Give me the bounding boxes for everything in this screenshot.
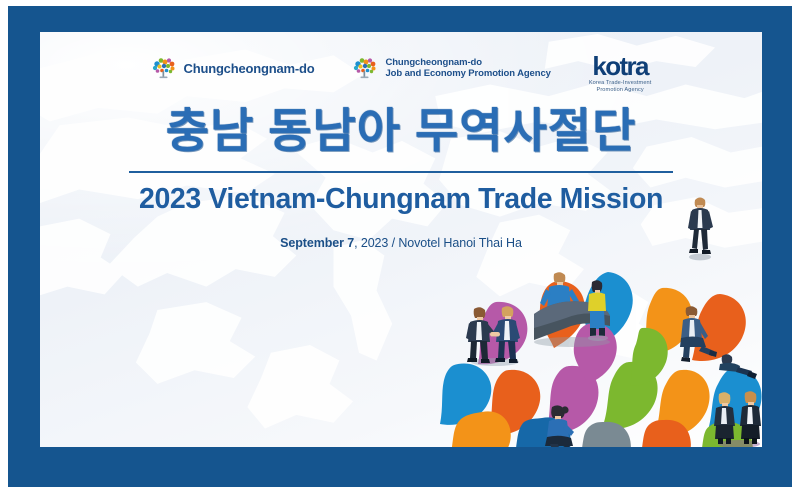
page-title-korean: 충남 동남아 무역사절단 <box>40 106 762 157</box>
kotra-subtitle: Korea Trade-Investment Promotion Agency <box>589 80 652 94</box>
logo-row: Chungcheongnam-do <box>40 56 762 94</box>
page-title-english: 2023 Vietnam-Chungnam Trade Mission <box>40 183 762 216</box>
colorful-tree-logo-icon <box>352 56 378 80</box>
kotra-wordmark: kotra <box>592 53 648 79</box>
logo-job-economy-agency: Chungcheongnam-do Job and Economy Promot… <box>352 56 550 80</box>
event-date-rest: , 2023 / Novotel Hanoi Thai Ha <box>354 236 522 250</box>
poster-border-frame: Chungcheongnam-do <box>8 6 792 487</box>
kotra-subtitle-line-2: Promotion Agency <box>589 87 652 94</box>
colorful-petal-graphic <box>438 272 762 447</box>
headline-block: 충남 동남아 무역사절단 2023 Vietnam-Chungnam Trade… <box>40 106 762 250</box>
poster-interior: Chungcheongnam-do <box>40 32 762 447</box>
logo-chungcheongnam-do: Chungcheongnam-do <box>151 56 315 80</box>
colorful-tree-logo-icon <box>151 56 177 80</box>
logo-job-economy-agency-label: Chungcheongnam-do Job and Economy Promot… <box>385 57 550 79</box>
title-divider <box>129 171 673 173</box>
logo-line-2: Job and Economy Promotion Agency <box>385 68 550 79</box>
logo-kotra: kotra Korea Trade-Investment Promotion A… <box>589 53 652 94</box>
poster-canvas: Chungcheongnam-do <box>0 0 800 493</box>
kotra-subtitle-line-1: Korea Trade-Investment <box>589 80 652 87</box>
logo-chungcheongnam-do-label: Chungcheongnam-do <box>184 61 315 76</box>
event-date-venue: September 7, 2023 / Novotel Hanoi Thai H… <box>40 236 762 250</box>
event-date-strong: September 7 <box>280 236 354 250</box>
logo-line-1: Chungcheongnam-do <box>385 57 550 68</box>
